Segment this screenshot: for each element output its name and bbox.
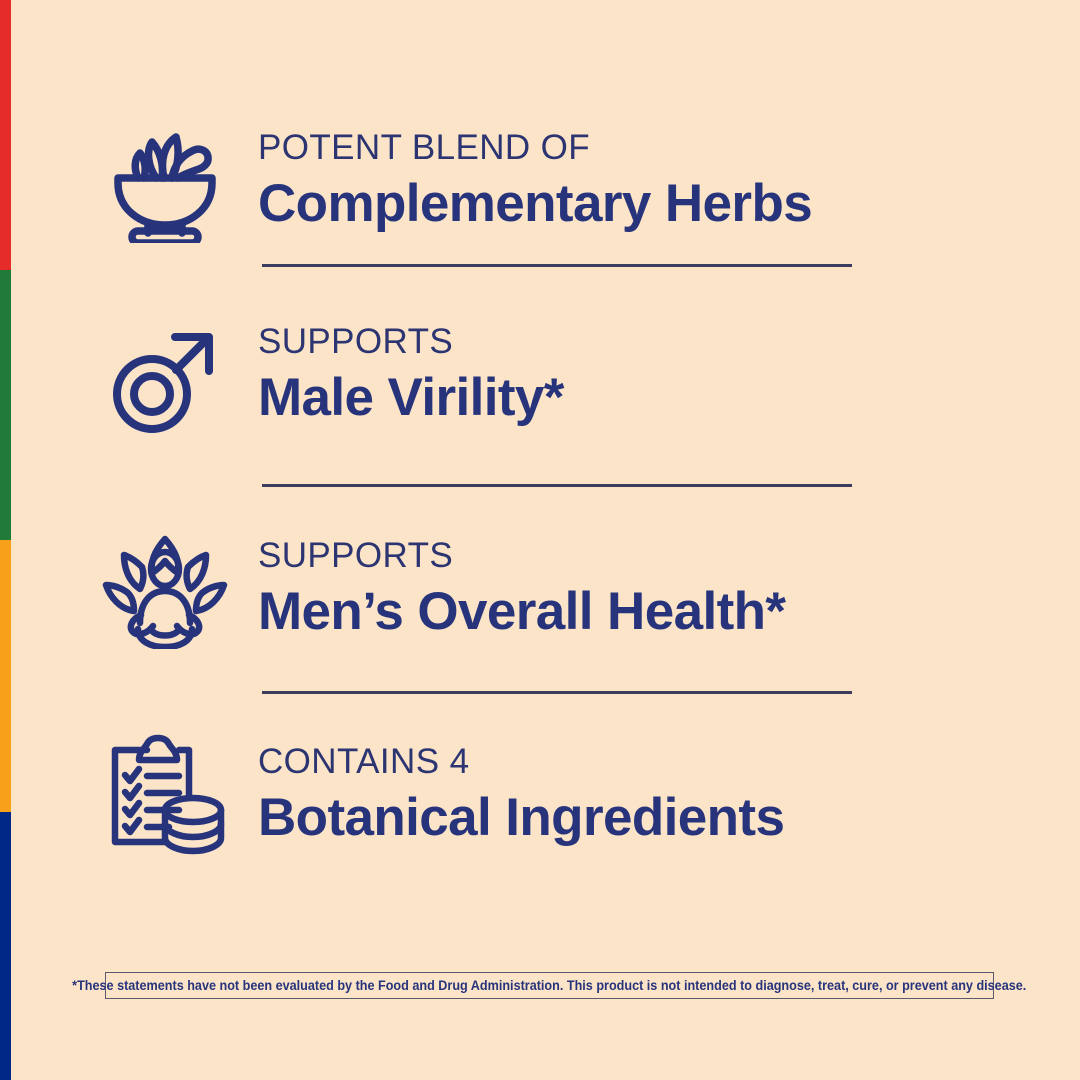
rail-segment-red	[0, 0, 11, 270]
rail-segment-orange	[0, 540, 11, 812]
feature-item-male-virility: SUPPORTS Male Virility*	[90, 310, 880, 442]
mortar-and-pestle-icon	[90, 116, 240, 248]
fda-disclaimer-box: *These statements have not been evaluate…	[105, 972, 994, 999]
left-color-rail	[0, 0, 11, 1080]
product-benefits-graphic: POTENT BLEND OF Complementary Herbs SUPP	[0, 0, 1080, 1080]
feature-divider-1	[262, 264, 852, 267]
feature-eyebrow: CONTAINS 4	[258, 740, 784, 784]
meditation-lotus-icon	[90, 524, 240, 656]
feature-item-complementary-herbs: POTENT BLEND OF Complementary Herbs	[90, 116, 880, 248]
feature-divider-2	[262, 484, 852, 487]
feature-headline: Male Virility*	[258, 366, 564, 430]
feature-text-block: SUPPORTS Male Virility*	[240, 310, 564, 430]
feature-eyebrow: SUPPORTS	[258, 534, 785, 578]
feature-headline: Complementary Herbs	[258, 172, 812, 236]
fda-disclaimer-text: *These statements have not been evaluate…	[72, 978, 1026, 994]
feature-eyebrow: POTENT BLEND OF	[258, 126, 812, 170]
feature-headline: Botanical Ingredients	[258, 786, 784, 850]
feature-item-mens-overall-health: SUPPORTS Men’s Overall Health*	[90, 524, 880, 656]
rail-segment-green	[0, 270, 11, 540]
rail-segment-blue	[0, 812, 11, 1080]
feature-item-botanical-ingredients: CONTAINS 4 Botanical Ingredients	[90, 730, 880, 862]
feature-divider-3	[262, 691, 852, 694]
male-symbol-icon	[90, 310, 240, 442]
feature-headline: Men’s Overall Health*	[258, 580, 785, 644]
feature-text-block: SUPPORTS Men’s Overall Health*	[240, 524, 785, 644]
feature-text-block: CONTAINS 4 Botanical Ingredients	[240, 730, 784, 850]
feature-text-block: POTENT BLEND OF Complementary Herbs	[240, 116, 812, 236]
clipboard-checklist-pills-icon	[90, 730, 240, 862]
feature-eyebrow: SUPPORTS	[258, 320, 564, 364]
